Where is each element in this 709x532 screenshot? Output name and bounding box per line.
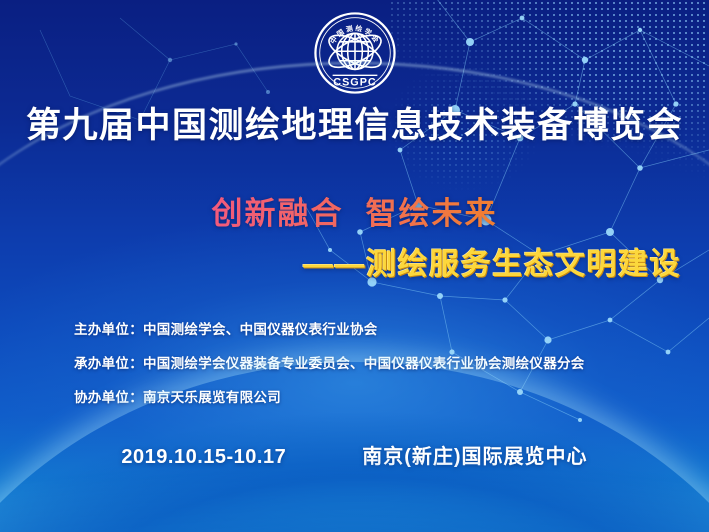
earth-horizon-edge: [0, 62, 709, 364]
event-poster: CSGPC 中国测绘学会 第九届中国测绘地理信息技术装备博览会 创新融合智绘未来…: [0, 0, 709, 532]
